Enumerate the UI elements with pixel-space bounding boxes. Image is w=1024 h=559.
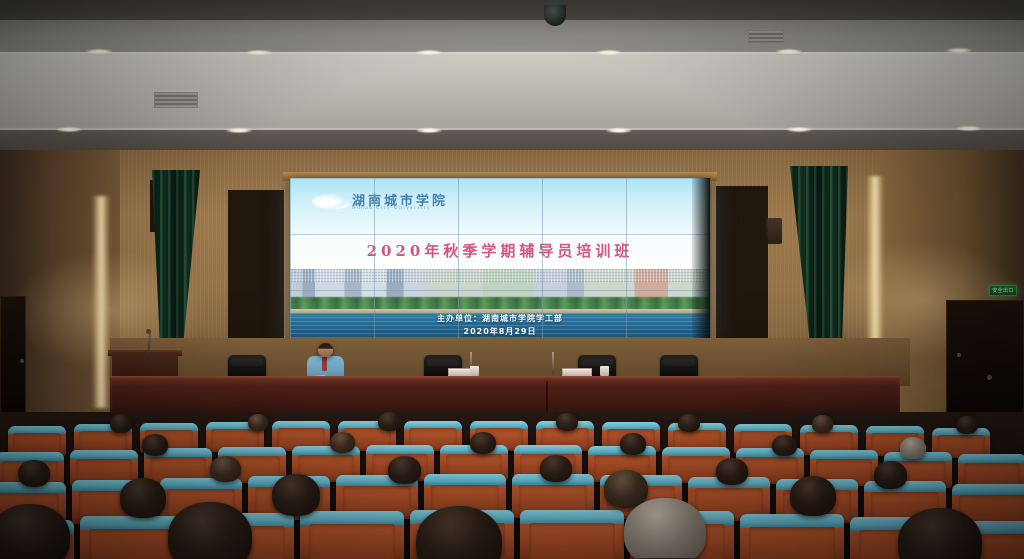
ceiling-downlight — [956, 126, 982, 131]
attendee-head — [900, 437, 926, 459]
attendee-head — [812, 415, 833, 433]
podium-microphone-icon — [146, 329, 151, 334]
attendee-head — [110, 414, 132, 433]
seat[interactable] — [740, 514, 844, 559]
audience-seating-area: 6排-11座6排-13座6排-15座7排-13座7排-16座7排-17座7排-1… — [0, 412, 1024, 559]
hvac-vent — [748, 30, 784, 43]
screen-edge-shadow — [692, 178, 710, 346]
ceiling-shadow-top — [0, 0, 1024, 20]
door-handle-icon — [987, 375, 992, 380]
wall-light-strip-left — [92, 196, 110, 408]
attendee-head — [556, 413, 578, 431]
attendee-head — [772, 435, 797, 456]
presenter-head — [318, 343, 333, 357]
hvac-vent — [154, 92, 198, 108]
water-cup — [600, 366, 609, 376]
water-cup — [470, 366, 479, 376]
door-handle-icon — [957, 353, 961, 357]
presenter-tie — [322, 357, 327, 371]
attendee-head — [248, 414, 268, 431]
ceiling-downlight — [946, 48, 972, 53]
ceiling-downlight — [606, 128, 632, 133]
ceiling-band-mid — [0, 54, 1024, 128]
ceiling-downlight — [86, 49, 112, 54]
door-right[interactable] — [946, 300, 1024, 426]
attendee-head — [330, 432, 355, 453]
attendee-head — [540, 455, 572, 482]
ceiling-downlight — [596, 50, 622, 55]
attendee-head — [388, 456, 421, 484]
slide-title: 2020年秋季学期辅导员培训班 — [290, 240, 710, 261]
wall-acoustic-panel — [716, 186, 768, 338]
camera-dome — [544, 5, 566, 26]
attendee-head — [790, 476, 836, 516]
attendee-head-front — [624, 498, 706, 559]
attendee-head-front — [168, 502, 252, 559]
attendee-head — [678, 414, 700, 432]
name-placard — [562, 368, 592, 376]
exit-sign-label: 安全出口 — [992, 287, 1014, 294]
attendee-head — [956, 416, 978, 434]
ceiling-downlight — [246, 50, 272, 55]
attendee-head — [874, 461, 907, 489]
ceiling — [0, 0, 1024, 168]
ceiling-downlight — [56, 127, 82, 132]
attendee-head — [120, 478, 166, 518]
attendee-head — [716, 458, 748, 485]
attendee-head — [210, 456, 241, 482]
slide-date-line: 2020年8月29日 — [290, 326, 710, 337]
dome-security-camera — [544, 0, 566, 26]
door-handle-icon — [20, 359, 24, 363]
seat[interactable] — [520, 510, 624, 559]
attendee-head — [378, 412, 401, 431]
emergency-exit-sign: 安全出口 — [989, 285, 1017, 296]
table-microphone — [552, 352, 554, 374]
seat[interactable] — [300, 511, 404, 559]
door-left[interactable] — [0, 296, 26, 420]
attendee-head — [620, 433, 646, 455]
attendee-head — [18, 460, 50, 487]
ceiling-downlight — [416, 128, 442, 133]
ceiling-downlight — [416, 50, 442, 55]
attendee-head — [470, 432, 496, 454]
ceiling-downlight — [786, 127, 812, 132]
slide-organizer-line: 主办单位：湖南城市学院学工部 — [290, 313, 710, 324]
auditorium-photo: 安全出口 湖南城市学院 Hunan City University 2020年秋… — [0, 0, 1024, 559]
attendee-head — [272, 474, 320, 516]
university-name-en: Hunan City University — [352, 206, 431, 211]
led-video-wall[interactable]: 湖南城市学院 Hunan City University 2020年秋季学期辅导… — [290, 178, 710, 346]
building-windows — [290, 269, 710, 282]
ceiling-downlight — [226, 128, 252, 133]
wall-mounted-speaker — [766, 218, 782, 244]
wall-acoustic-panel — [228, 190, 284, 338]
university-logo-icon — [312, 194, 346, 209]
presentation-slide: 湖南城市学院 Hunan City University 2020年秋季学期辅导… — [290, 178, 710, 346]
ceiling-downlight — [776, 49, 802, 54]
attendee-head — [142, 434, 168, 456]
